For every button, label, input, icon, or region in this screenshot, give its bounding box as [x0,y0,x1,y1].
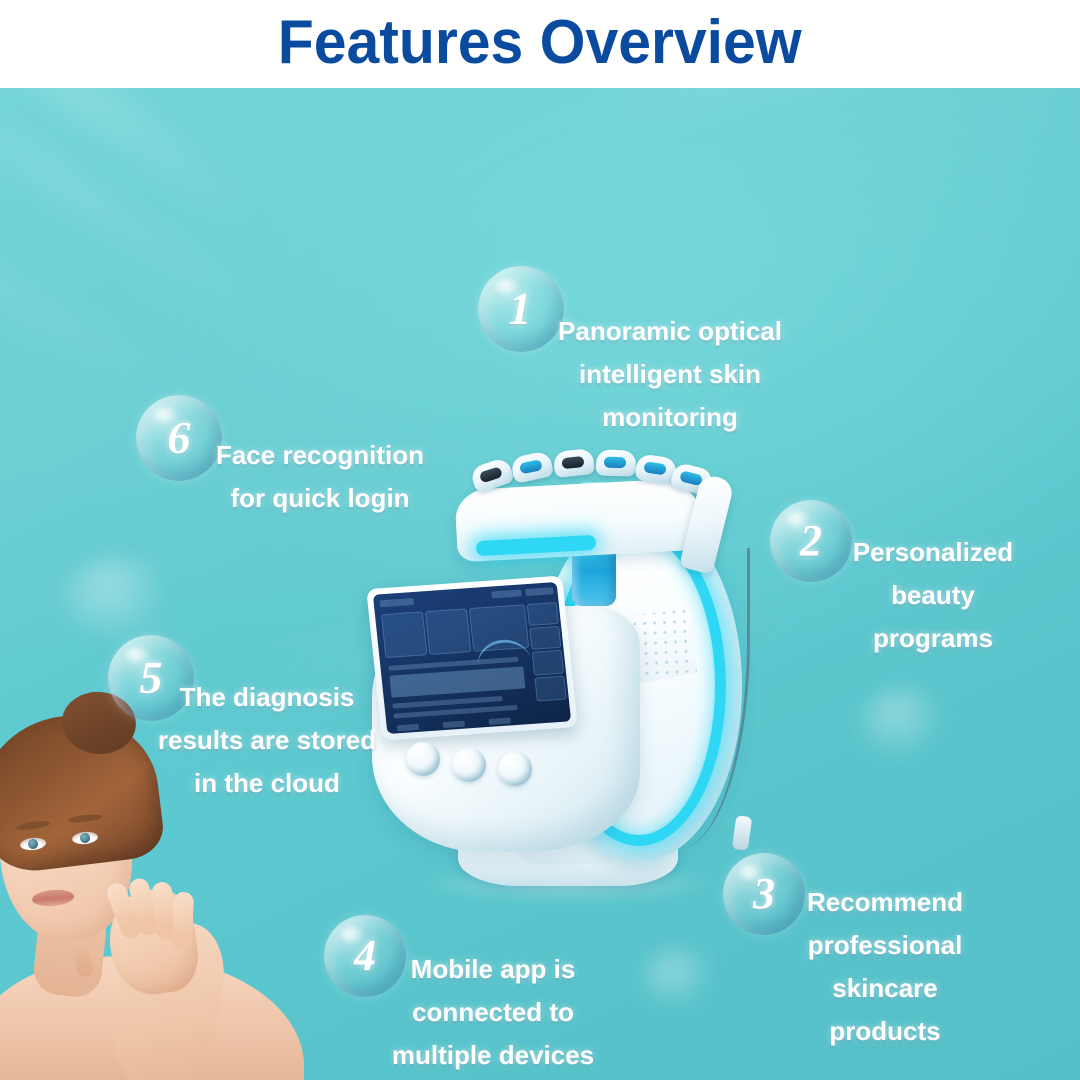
feature-text-line: products [760,1010,1010,1053]
product-feature-image: 1 Panoramic optical intelligent skin mon… [0,88,1080,1080]
background-light-streak [0,88,272,239]
feature-number-label: 3 [753,872,775,916]
feature-number-label: 1 [509,286,532,332]
title-banner: Features Overview [0,0,1080,88]
control-knob [498,752,532,786]
handpiece [596,449,637,476]
device-probe-tip [732,815,753,851]
feature-text-4: Mobile app is connected to multiple devi… [362,948,624,1077]
feature-text-line: connected to [362,991,624,1034]
background-bokeh [860,688,950,758]
feature-text-line: Personalized [808,531,1058,574]
feature-text-line: Panoramic optical [520,310,820,353]
model-finger [172,892,194,951]
background-bokeh [60,558,180,638]
feature-text-line: intelligent skin [520,353,820,396]
feature-text-line: The diagnosis [122,676,412,719]
feature-text-line: Mobile app is [362,948,624,991]
feature-text-line: skincare [760,967,1010,1010]
feature-text-line: results are stored [122,719,412,762]
background-bokeh [640,948,720,1008]
feature-text-line: Recommend [760,881,1010,924]
feature-text-6: Face recognition for quick login [180,434,460,520]
handpiece [510,450,555,484]
feature-text-5: The diagnosis results are stored in the … [122,676,412,805]
features-overview-page: Features Overview [0,0,1080,1080]
feature-text-line: for quick login [180,477,460,520]
feature-text-line: Face recognition [180,434,460,477]
feature-text-3: Recommend professional skincare products [760,881,1010,1053]
device-probe-cable [680,548,750,848]
background-light-streak [522,88,1080,160]
feature-number-label: 6 [168,415,191,461]
background-light-streak [0,88,287,340]
feature-number-label: 4 [354,934,376,978]
background-light-streak [0,185,208,418]
feature-number-label: 2 [800,519,822,563]
page-title: Features Overview [278,12,802,74]
feature-text-line: in the cloud [122,762,412,805]
feature-text-1: Panoramic optical intelligent skin monit… [520,310,820,439]
feature-number-label: 5 [140,655,163,701]
handpiece [553,448,595,478]
control-knob [452,748,486,782]
feature-text-line: monitoring [520,396,820,439]
feature-text-line: multiple devices [362,1034,624,1077]
feature-text-2: Personalized beauty programs [808,531,1058,660]
feature-text-line: professional [760,924,1010,967]
feature-text-line: programs [808,617,1058,660]
feature-text-line: beauty [808,574,1058,617]
